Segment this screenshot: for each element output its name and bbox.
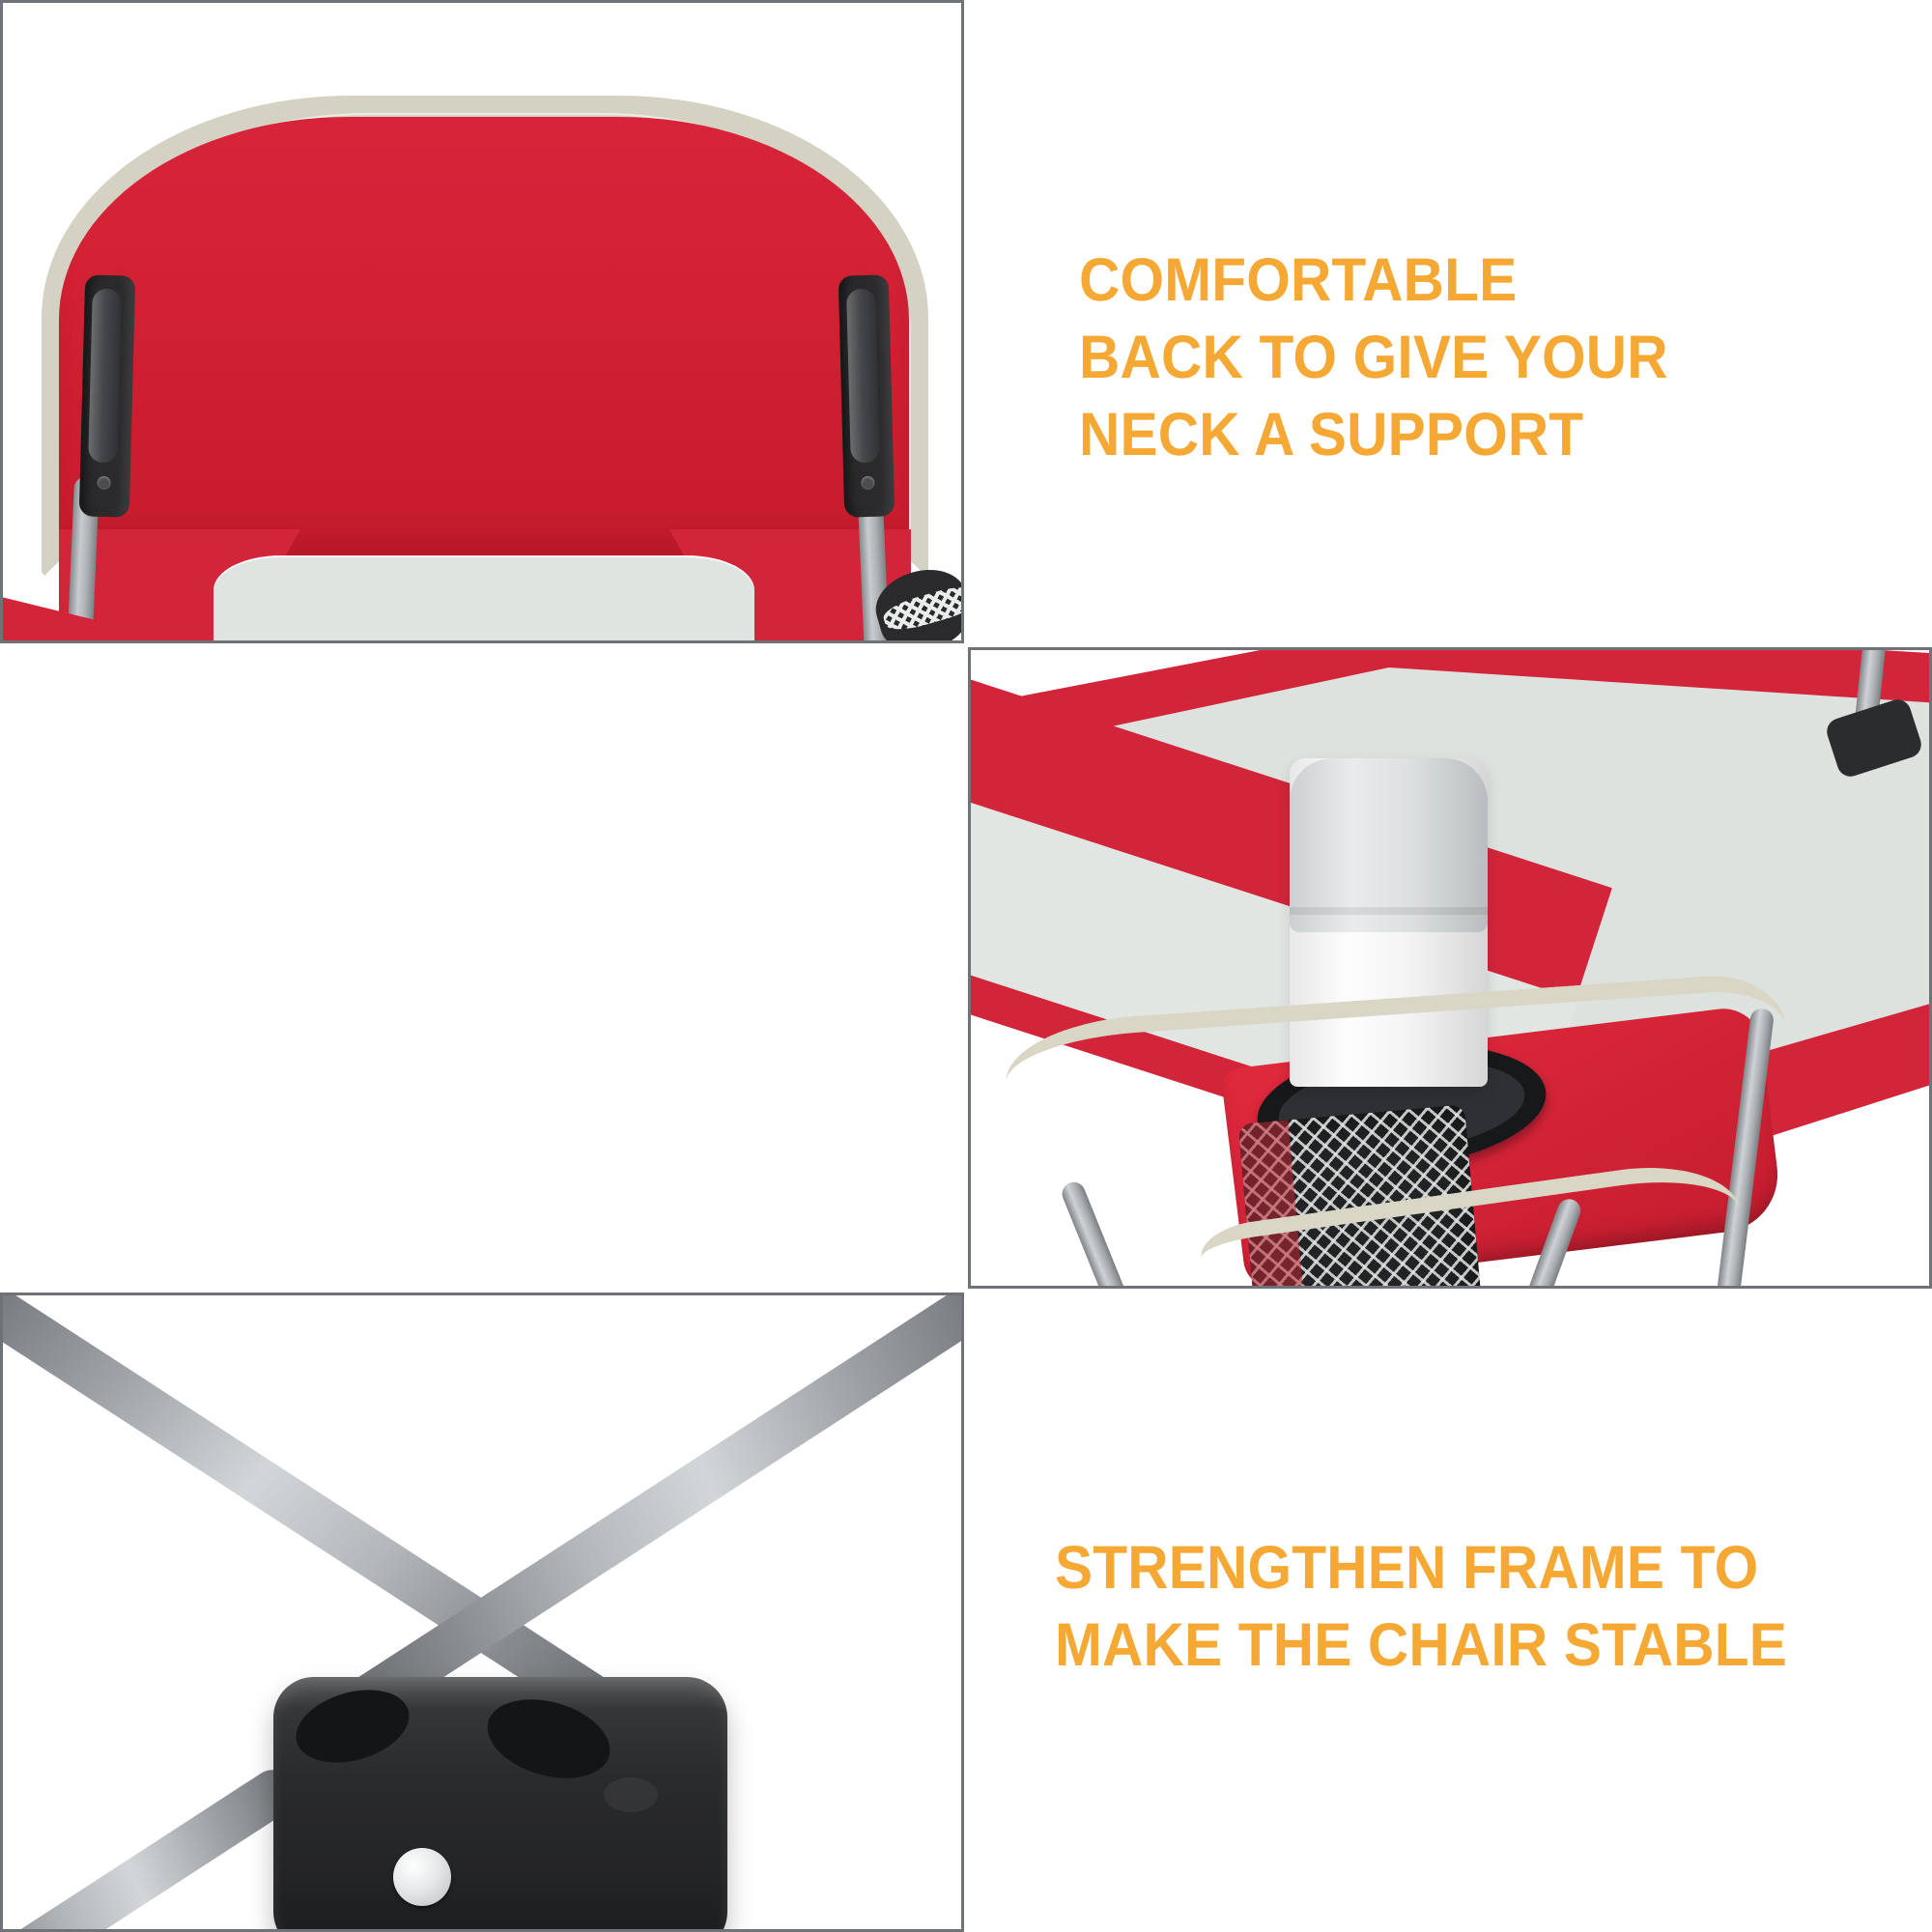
panel-chair-back-photo [0, 0, 964, 643]
joint-release-button [393, 1848, 451, 1906]
pole-grip-right [846, 289, 880, 464]
frame-tube-diagonal-a [0, 1293, 641, 1741]
caption-strengthen-frame: STRENGTHEN FRAME TO MAKE THE CHAIR STABL… [1055, 1529, 1787, 1684]
panel-frame-caption: STRENGTHEN FRAME TO MAKE THE CHAIR STABL… [968, 1293, 1932, 1932]
panel-cup-holder-photo [968, 647, 1932, 1289]
backrest-mesh-window [213, 555, 754, 643]
pole-rivet-right [861, 476, 874, 490]
frame-cross-joint-hub [273, 1677, 727, 1932]
panel-back-caption: COMFORTABLE BACK TO GIVE YOUR NECK A SUP… [968, 0, 1932, 643]
frame-tube-lower-left [0, 1761, 305, 1932]
pole-rivet-left [97, 476, 110, 490]
joint-dimple [604, 1777, 658, 1812]
backrest-red-fabric [59, 117, 909, 561]
chair-back-illustration [3, 3, 961, 640]
x-frame-illustration [3, 1295, 961, 1929]
infographic-sheet: COMFORTABLE BACK TO GIVE YOUR NECK A SUP… [0, 0, 1932, 1932]
pole-grip-left [88, 289, 122, 464]
thermos-bottle-cap [1290, 758, 1488, 932]
frame-tube-diagonal-b [321, 1293, 964, 1741]
caption-comfortable-back: COMFORTABLE BACK TO GIVE YOUR NECK A SUP… [1079, 241, 1668, 473]
panel-x-frame-photo [0, 1293, 964, 1932]
cup-holder-illustration [971, 650, 1929, 1286]
pole-sleeve-right [838, 274, 895, 517]
pole-sleeve-left [79, 274, 136, 517]
panel-armrest-caption: ADJUSTABLE ARMREST AND A CUP HOLDER TO K… [0, 647, 964, 1289]
